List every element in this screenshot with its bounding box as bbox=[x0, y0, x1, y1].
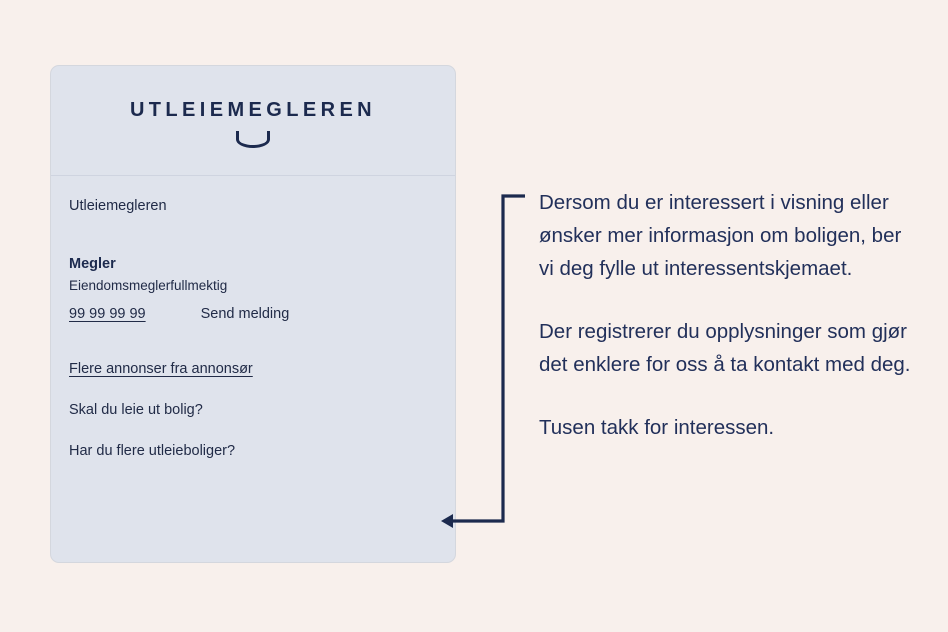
link-more-ads-from-advertiser[interactable]: Flere annonser fra annonsør bbox=[69, 361, 455, 377]
agent-details: Megler Eiendomsmeglerfullmektig 99 99 99… bbox=[69, 256, 455, 322]
annotation-text-block: Dersom du er interessert i visning eller… bbox=[539, 186, 911, 444]
agent-name: Megler bbox=[69, 256, 455, 272]
agent-contact-card: UTLEIEMEGLEREN Utleiemegleren Megler Eie… bbox=[50, 65, 456, 563]
link-multiple-rental-homes[interactable]: Har du flere utleieboliger? bbox=[69, 443, 455, 459]
agent-role: Eiendomsmeglerfullmektig bbox=[69, 278, 455, 293]
agent-contact-row: 99 99 99 99 Send melding bbox=[69, 306, 455, 322]
page-root: { "theme": { "page_background": "#f8f0ec… bbox=[0, 0, 948, 632]
smile-arc-icon bbox=[236, 131, 270, 148]
agent-phone-link[interactable]: 99 99 99 99 bbox=[69, 306, 146, 322]
annotation-paragraph-1: Dersom du er interessert i visning eller… bbox=[539, 186, 911, 285]
annotation-paragraph-3: Tusen takk for interessen. bbox=[539, 411, 911, 444]
brand-wordmark: UTLEIEMEGLEREN bbox=[130, 99, 376, 122]
connector-path bbox=[449, 196, 525, 521]
send-message-link[interactable]: Send melding bbox=[201, 306, 290, 322]
card-body: Utleiemegleren Megler Eiendomsmeglerfull… bbox=[51, 176, 455, 563]
link-rent-out-home[interactable]: Skal du leie ut bolig? bbox=[69, 402, 455, 418]
advertiser-link-list: Flere annonser fra annonsør Skal du leie… bbox=[69, 361, 455, 459]
organisation-name: Utleiemegleren bbox=[69, 198, 455, 214]
card-header: UTLEIEMEGLEREN bbox=[51, 66, 455, 176]
annotation-paragraph-2: Der registrerer du opplysninger som gjør… bbox=[539, 315, 911, 381]
